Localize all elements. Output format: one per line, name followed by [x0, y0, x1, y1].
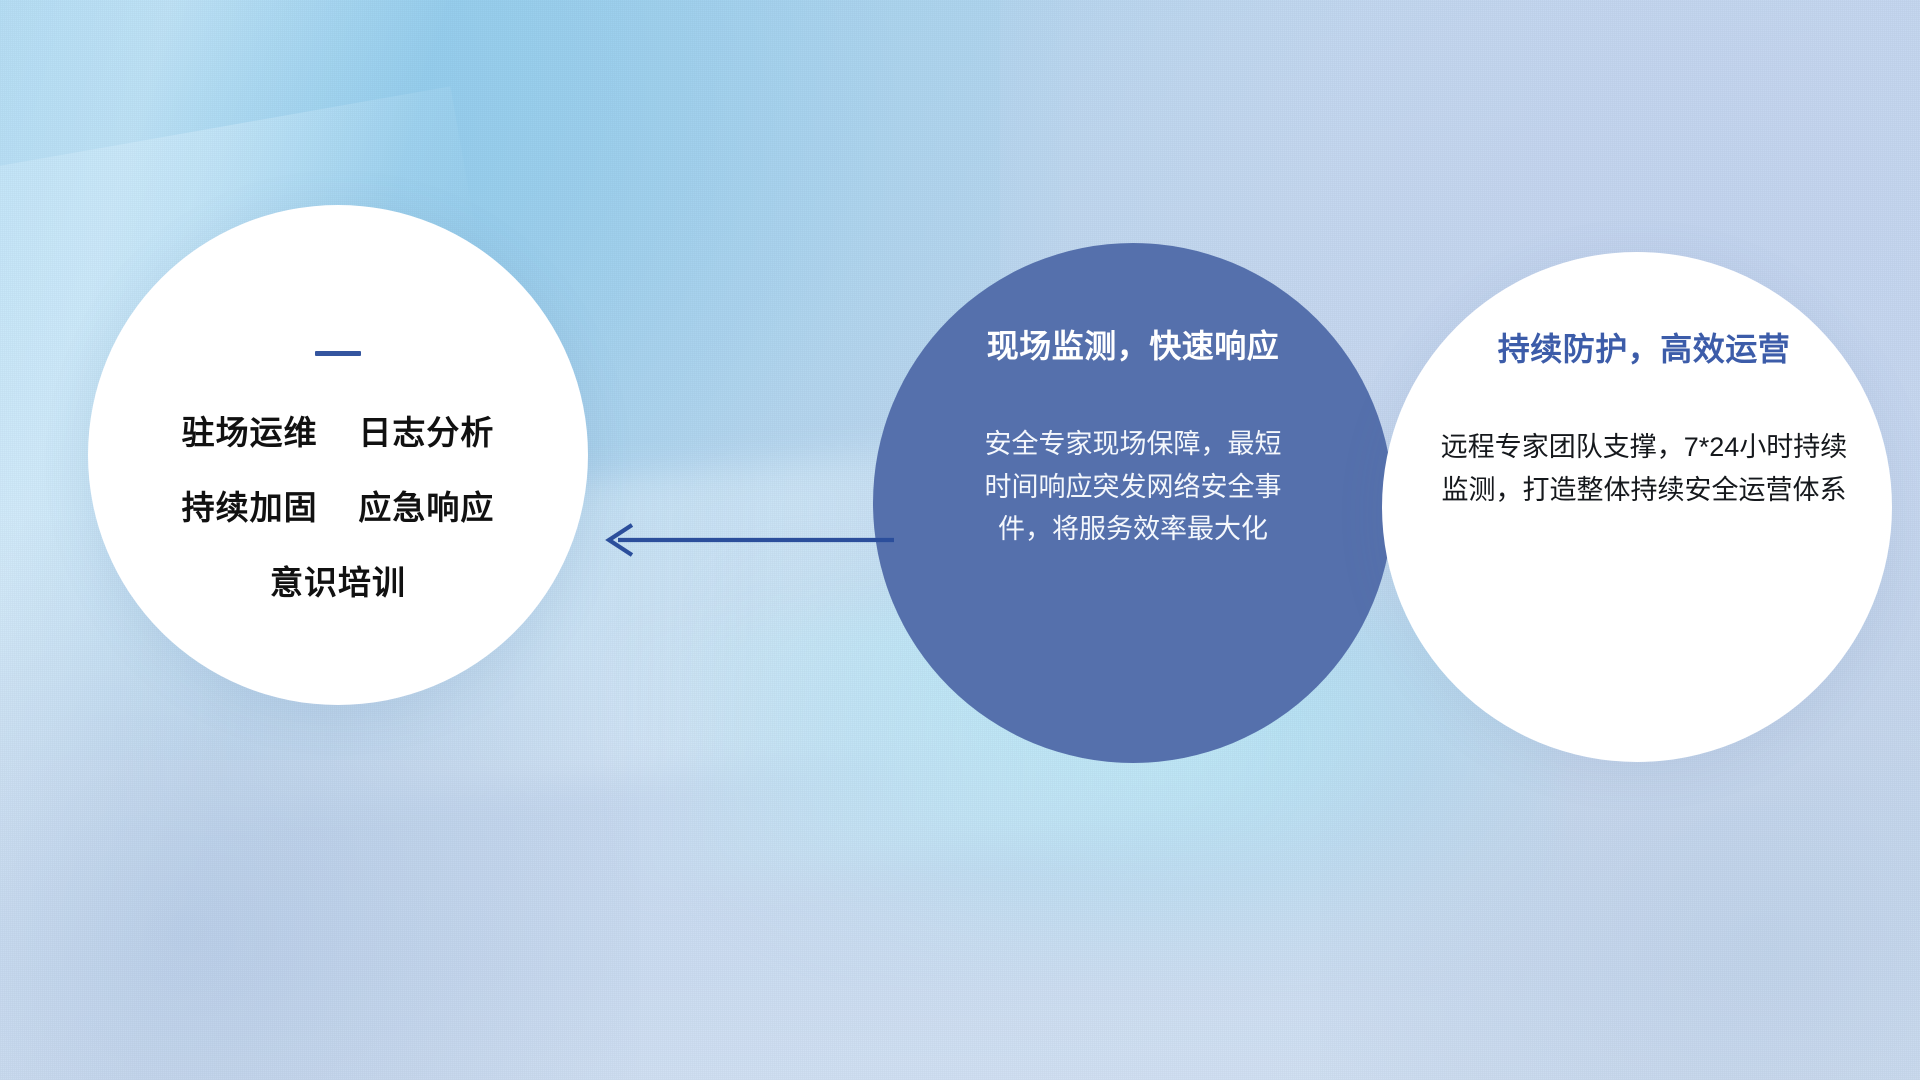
continuous-defense-title: 持续防护，高效运营: [1498, 324, 1791, 370]
divider-rule: [315, 351, 361, 356]
capability-row-1: 驻场运维 日志分析: [182, 416, 495, 449]
capability-row-2: 持续加固 应急响应: [182, 491, 495, 524]
capability-row-3: 意识培训: [270, 566, 406, 599]
onsite-monitoring-title: 现场监测，快速响应: [987, 321, 1280, 367]
continuous-defense-body: 远程专家团队支撑，7*24小时持续监测，打造整体持续安全运营体系: [1436, 426, 1852, 511]
onsite-monitoring-body: 安全专家现场保障，最短时间响应突发网络安全事件，将服务效率最大化: [974, 423, 1292, 551]
capabilities-content: 驻场运维 日志分析 持续加固 应急响应 意识培训: [88, 205, 588, 705]
diagram-stage: 驻场运维 日志分析 持续加固 应急响应 意识培训 现场监测，快速响应 安全专家现…: [0, 0, 1920, 1080]
onsite-monitoring-content: 现场监测，快速响应 安全专家现场保障，最短时间响应突发网络安全事件，将服务效率最…: [873, 243, 1393, 763]
continuous-defense-content: 持续防护，高效运营 远程专家团队支撑，7*24小时持续监测，打造整体持续安全运营…: [1382, 252, 1892, 762]
flow-arrow-left-icon: [596, 520, 896, 565]
